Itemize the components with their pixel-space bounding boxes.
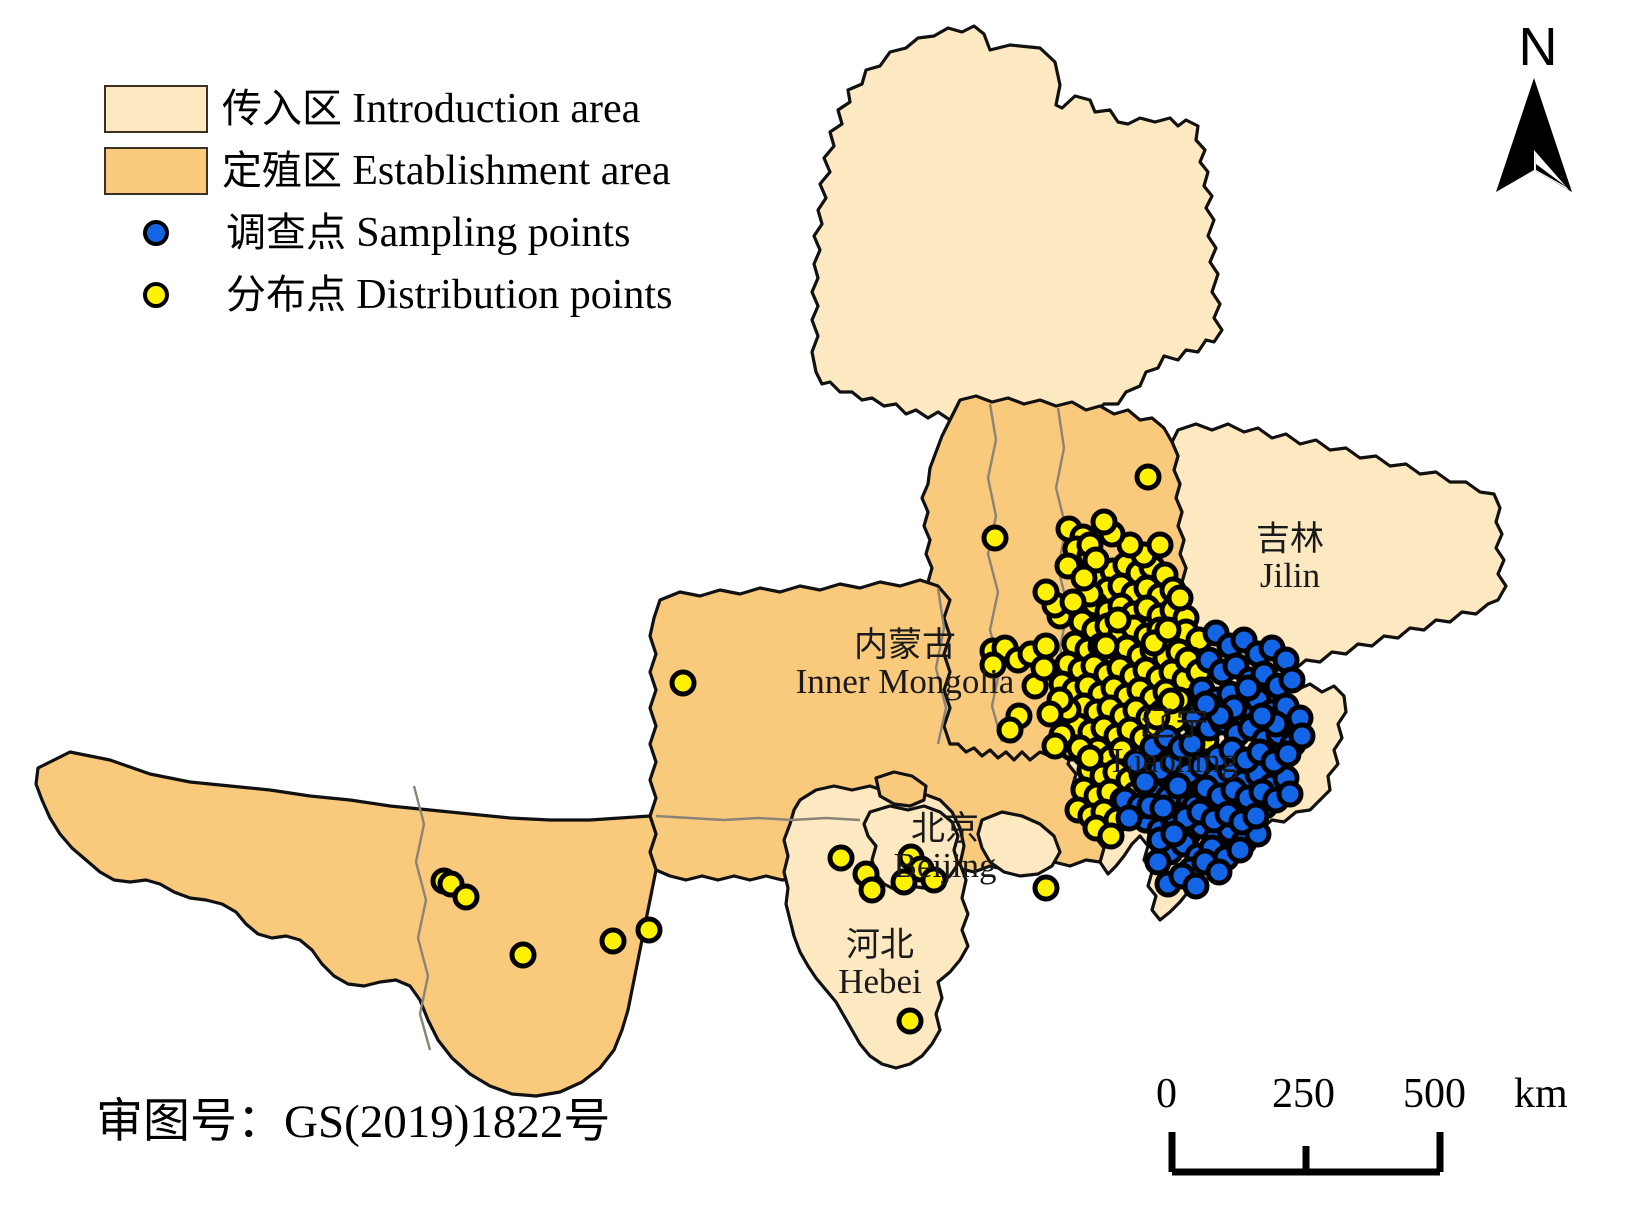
- north-arrow-label: N: [1498, 20, 1578, 74]
- region-heilongjiang[interactable]: [812, 26, 1222, 430]
- north-arrow: N: [1470, 22, 1600, 212]
- legend-label-sampling-points-cn: 调查点: [226, 210, 346, 256]
- legend-marker-sampling-points: [100, 220, 212, 246]
- scale-bar-graphic: [1150, 1126, 1590, 1186]
- legend-label-distribution-points-cn: 分布点: [226, 272, 346, 318]
- map-figure: .prov{stroke:#111111;stroke-width:3.2;st…: [0, 0, 1631, 1228]
- legend-item-distribution-points[interactable]: 分布点 Distribution points: [100, 264, 860, 326]
- region-inner-mongolia-west[interactable]: [36, 752, 656, 1096]
- legend-label-establishment-area-en: Establishment area: [352, 148, 670, 194]
- legend-label-introduction-area-en: Introduction area: [352, 86, 640, 132]
- scale-bar-tick-250: 250: [1272, 1070, 1335, 1118]
- scale-bar-labels: 0 250 500 km: [1150, 1070, 1590, 1122]
- legend-label-establishment-area-cn: 定殖区: [222, 148, 342, 194]
- map-approval-number: 审图号：GS(2019)1822号: [96, 1082, 610, 1151]
- scale-bar-tick-0: 0: [1156, 1070, 1177, 1118]
- sampling-point-icon: [143, 220, 169, 246]
- legend-label-distribution-points-en: Distribution points: [356, 272, 672, 318]
- legend-label-sampling-points-en: Sampling points: [356, 210, 630, 256]
- legend-label-distribution-points: 分布点 Distribution points: [212, 274, 672, 316]
- legend-item-introduction-area[interactable]: 传入区 Introduction area: [100, 78, 860, 140]
- scale-bar: 0 250 500 km: [1150, 1070, 1590, 1200]
- legend-item-establishment-area[interactable]: 定殖区 Establishment area: [100, 140, 860, 202]
- legend-item-sampling-points[interactable]: 调查点 Sampling points: [100, 202, 860, 264]
- scale-bar-unit: km: [1514, 1070, 1568, 1118]
- legend-swatch-establishment-area: [104, 147, 208, 195]
- legend-swatch-introduction-area: [104, 85, 208, 133]
- legend-label-establishment-area: 定殖区 Establishment area: [208, 150, 671, 192]
- scale-bar-tick-500: 500: [1403, 1070, 1466, 1118]
- map-legend: 传入区 Introduction area 定殖区 Establishment …: [100, 78, 860, 326]
- legend-label-introduction-area: 传入区 Introduction area: [208, 88, 640, 130]
- legend-marker-distribution-points: [100, 282, 212, 308]
- legend-label-introduction-area-cn: 传入区: [222, 86, 342, 132]
- legend-label-sampling-points: 调查点 Sampling points: [212, 212, 630, 254]
- distribution-point-icon: [143, 282, 169, 308]
